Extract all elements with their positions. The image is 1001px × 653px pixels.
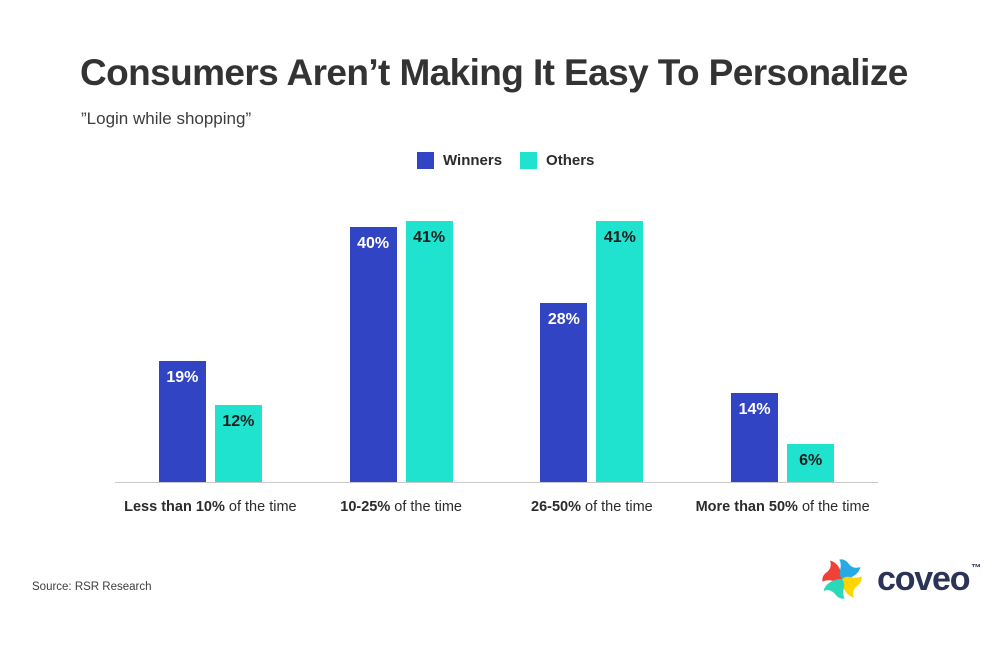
legend-item-others: Others xyxy=(520,152,594,169)
category-label-1: Less than 10% of the time xyxy=(115,497,306,517)
bar-pair: 14%6% xyxy=(687,195,878,482)
bar-pair: 28%41% xyxy=(497,195,688,482)
bar-winners-2[interactable]: 40% xyxy=(350,227,397,482)
bar-value-label: 14% xyxy=(739,393,771,418)
category-label-rest: of the time xyxy=(798,499,870,515)
bar-value-label: 40% xyxy=(357,227,389,252)
bar-others-4[interactable]: 6% xyxy=(787,444,834,482)
bar-winners-1[interactable]: 19% xyxy=(159,361,206,482)
bar-group: 40%41% xyxy=(306,195,497,482)
category-label-2: 10-25% of the time xyxy=(306,497,497,517)
pinwheel-leaf-yellow xyxy=(842,576,862,597)
bar-pair: 19%12% xyxy=(115,195,306,482)
pinwheel-leaf-red xyxy=(822,561,842,582)
bar-value-label: 6% xyxy=(799,444,822,469)
category-label-rest: of the time xyxy=(390,499,462,515)
coveo-wordmark: coveo ™ xyxy=(877,562,981,596)
bar-value-label: 28% xyxy=(548,303,580,328)
category-label-strong: More than 50% xyxy=(696,499,798,515)
x-axis-baseline xyxy=(115,482,878,483)
category-label-rest: of the time xyxy=(581,499,653,515)
pinwheel-leaf-blue xyxy=(839,559,860,579)
bar-others-1[interactable]: 12% xyxy=(215,405,262,482)
category-label-rest: of the time xyxy=(225,499,297,515)
bar-pair: 40%41% xyxy=(306,195,497,482)
bar-winners-3[interactable]: 28% xyxy=(540,303,587,482)
bar-chart-plot-area: 19%12%40%41%28%41%14%6% xyxy=(115,195,878,483)
bar-value-label: 12% xyxy=(222,405,254,430)
bar-value-label: 19% xyxy=(166,361,198,386)
bar-group: 19%12% xyxy=(115,195,306,482)
trademark-symbol: ™ xyxy=(971,564,981,574)
bar-groups: 19%12%40%41%28%41%14%6% xyxy=(115,195,878,482)
bar-others-2[interactable]: 41% xyxy=(406,221,453,482)
bar-value-label: 41% xyxy=(413,221,445,246)
category-label-strong: 26-50% xyxy=(531,499,581,515)
coveo-logo: coveo ™ xyxy=(819,556,981,602)
category-label-strong: Less than 10% xyxy=(124,499,225,515)
legend-label-winners: Winners xyxy=(443,152,502,169)
category-label-4: More than 50% of the time xyxy=(687,497,878,517)
bar-others-3[interactable]: 41% xyxy=(596,221,643,482)
legend-swatch-others xyxy=(520,152,537,169)
bar-group: 28%41% xyxy=(497,195,688,482)
coveo-pinwheel-icon xyxy=(819,556,865,602)
pinwheel-leaf-teal xyxy=(824,579,845,599)
bar-winners-4[interactable]: 14% xyxy=(731,393,778,482)
x-axis-category-labels: Less than 10% of the time10-25% of the t… xyxy=(115,497,878,517)
source-attribution: Source: RSR Research xyxy=(32,581,152,593)
bar-value-label: 41% xyxy=(604,221,636,246)
chart-legend: Winners Others xyxy=(417,152,594,169)
bar-group: 14%6% xyxy=(687,195,878,482)
category-label-strong: 10-25% xyxy=(340,499,390,515)
coveo-wordmark-text: coveo xyxy=(877,562,969,596)
page-subtitle: ”Login while shopping” xyxy=(81,109,251,129)
legend-swatch-winners xyxy=(417,152,434,169)
category-label-3: 26-50% of the time xyxy=(497,497,688,517)
legend-item-winners: Winners xyxy=(417,152,502,169)
legend-label-others: Others xyxy=(546,152,594,169)
page-title: Consumers Aren’t Making It Easy To Perso… xyxy=(80,52,908,94)
